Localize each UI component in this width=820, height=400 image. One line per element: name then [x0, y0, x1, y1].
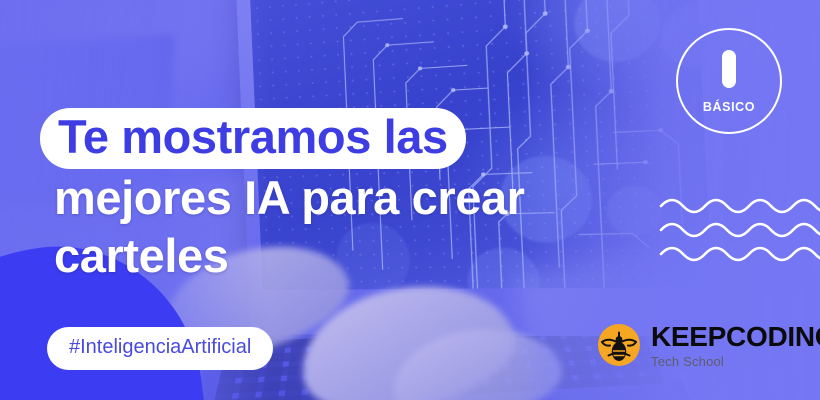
level-badge: BÁSICO	[676, 28, 782, 134]
headline-line-2: mejores IA para crear	[40, 169, 600, 227]
keepcoding-logo: KEEPCODING Tech School	[596, 322, 820, 368]
hashtag-badge: #InteligenciaArtificial	[47, 327, 273, 370]
logo-subtitle: Tech School	[651, 355, 820, 368]
headline-line-1: Te mostramos las	[40, 108, 466, 169]
logo-name: KEEPCODING	[651, 323, 820, 351]
logo-text-block: KEEPCODING Tech School	[651, 323, 820, 368]
headline-line-3: carteles	[40, 227, 600, 285]
level-bar-icon	[722, 50, 736, 88]
wave-lines-icon	[659, 192, 820, 264]
page-title: Te mostramos las mejores IA para crear c…	[40, 108, 600, 285]
promo-banner: Te mostramos las mejores IA para crear c…	[0, 0, 820, 400]
keepcoding-bee-icon	[596, 322, 642, 368]
level-badge-label: BÁSICO	[703, 100, 755, 114]
